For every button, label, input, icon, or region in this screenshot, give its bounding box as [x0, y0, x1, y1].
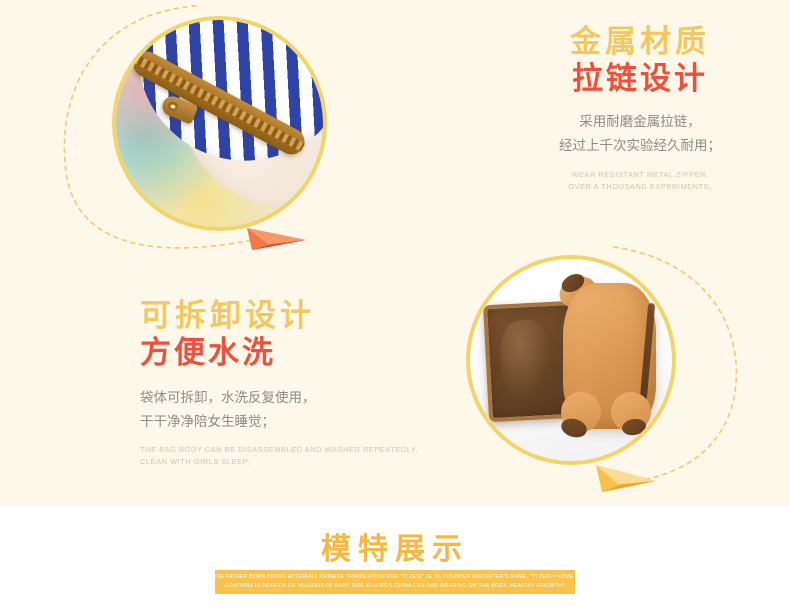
washable-caption: THE BAG BODY CAN BE DISASSEMBLED AND WAS…: [140, 444, 440, 467]
product-detail-page: 金属材质 拉链设计 采用耐磨金属拉链， 经过上千次实验经久耐用； WEAR RE…: [0, 0, 790, 616]
washable-caption-line-2: CLEAN WITH GIRLS SLEEP;: [140, 456, 440, 468]
zipper-body-text: 采用耐磨金属拉链， 经过上千次实验经久耐用；: [500, 111, 780, 158]
zipper-caption-line-1: WEAR RESISTANT METAL ZIPPER,: [500, 169, 780, 181]
zipper-body-line-1: 采用耐磨金属拉链，: [500, 111, 780, 135]
washable-photo-ring: [466, 255, 676, 465]
brand-story-banner: BECAUSE FATHER BORN BRAND ATTERHILL CHIN…: [215, 570, 575, 594]
zipper-text-block: 金属材质 拉链设计 采用耐磨金属拉链， 经过上千次实验经久耐用； WEAR RE…: [500, 24, 780, 193]
zipper-photo-ring: [112, 16, 327, 231]
zipper-caption: WEAR RESISTANT METAL ZIPPER, OVER A THOU…: [500, 169, 780, 192]
washable-photo-circle: [466, 255, 676, 465]
washable-body-line-2: 干干净净陪女生睡觉；: [140, 411, 440, 435]
washable-caption-line-1: THE BAG BODY CAN BE DISASSEMBLED AND WAS…: [140, 444, 440, 456]
model-display-title: 模特展示: [0, 524, 790, 568]
zipper-headline-bottom: 拉链设计: [500, 61, 780, 98]
washable-headline-bottom: 方便水洗: [140, 335, 440, 372]
zipper-body-line-2: 经过上千次实验经久耐用；: [500, 135, 780, 159]
washable-headline-top: 可拆卸设计: [140, 298, 440, 335]
zipper-photo-circle: [112, 16, 327, 231]
zipper-caption-line-2: OVER A THOUSAND EXPERIMENTS;: [500, 181, 780, 193]
washable-text-block: 可拆卸设计 方便水洗 袋体可拆卸，水洗反复使用， 干干净净陪女生睡觉； THE …: [140, 298, 440, 468]
washable-body-line-1: 袋体可拆卸，水洗反复使用，: [140, 387, 440, 411]
zipper-headline-top: 金属材质: [500, 24, 780, 61]
brand-banner-line-1: BECAUSE FATHER BORN BRAND ATTERHILL CHIN…: [197, 573, 592, 582]
model-display-section: 模特展示 BECAUSE FATHER BORN BRAND ATTERHILL…: [0, 506, 790, 616]
brand-banner-line-2: CONTAINS HUNDREDS OF MILLIONS OF BABY SI…: [224, 582, 565, 591]
washable-body-text: 袋体可拆卸，水洗反复使用， 干干净净陪女生睡觉；: [140, 387, 440, 434]
